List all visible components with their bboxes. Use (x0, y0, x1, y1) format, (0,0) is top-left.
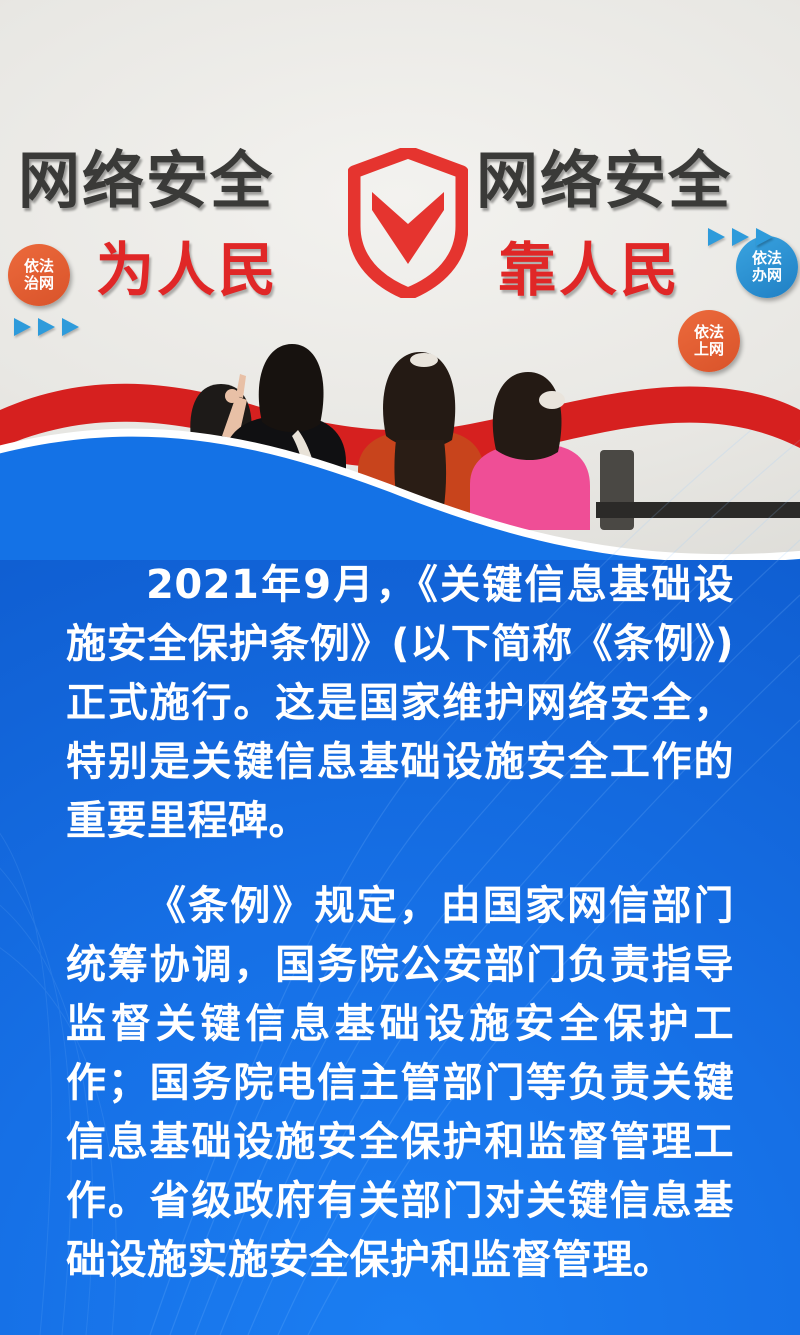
wall-subhead-left: 为人民 (96, 240, 279, 300)
wall-subhead-right: 靠人民 (498, 240, 681, 300)
badge-line1: 依法 (24, 258, 54, 275)
wall-headline-right: 网络安全 (476, 148, 732, 214)
badge-yifa-zhiwang: 依法 治网 (8, 244, 70, 306)
paragraph-2: 《条例》规定，由国家网信部门统筹协调，国务院公安部门负责指导监督关键信息基础设施… (66, 877, 734, 1290)
hero-photo: 网络安全 网络安全 为人民 靠人民 依法 治网 依法 办网 依法 上网 (0, 0, 800, 560)
article-body: 2021年9月，《关键信息基础设施安全保护条例》(以下简称《条例》)正式施行。这… (0, 556, 800, 1316)
paragraph-1: 2021年9月，《关键信息基础设施安全保护条例》(以下简称《条例》)正式施行。这… (66, 556, 734, 851)
arrow-cluster-right-icon (708, 228, 773, 246)
poster-root: 网络安全 网络安全 为人民 靠人民 依法 治网 依法 办网 依法 上网 (0, 0, 800, 1335)
wall-headline-left: 网络安全 (18, 148, 274, 214)
badge-line2: 办网 (752, 267, 782, 284)
red-shield-logo-icon (348, 148, 468, 298)
bottom-blue-wave (0, 400, 800, 560)
badge-line1: 依法 (752, 250, 782, 267)
badge-line2: 治网 (24, 275, 54, 292)
